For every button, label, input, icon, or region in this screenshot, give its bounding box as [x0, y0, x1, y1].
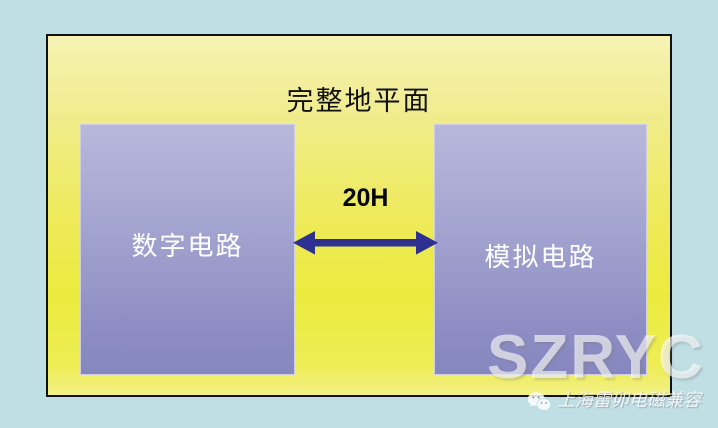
digital-circuit-block: 数字电路: [80, 124, 295, 375]
ground-plane-title: 完整地平面: [48, 88, 670, 115]
gap-distance-label: 20H: [293, 186, 438, 211]
digital-circuit-label: 数字电路: [131, 234, 243, 260]
analog-circuit-label: 模拟电路: [484, 245, 596, 271]
double-headed-horizontal-arrow-icon: [293, 226, 438, 260]
analog-circuit-block: 模拟电路: [434, 124, 647, 375]
diagram-canvas: 完整地平面 数字电路 模拟电路 20H SZRYC: [0, 0, 718, 428]
gap-annotation: 20H: [293, 186, 438, 266]
ground-plane-rect: 完整地平面 数字电路 模拟电路 20H: [46, 34, 672, 397]
